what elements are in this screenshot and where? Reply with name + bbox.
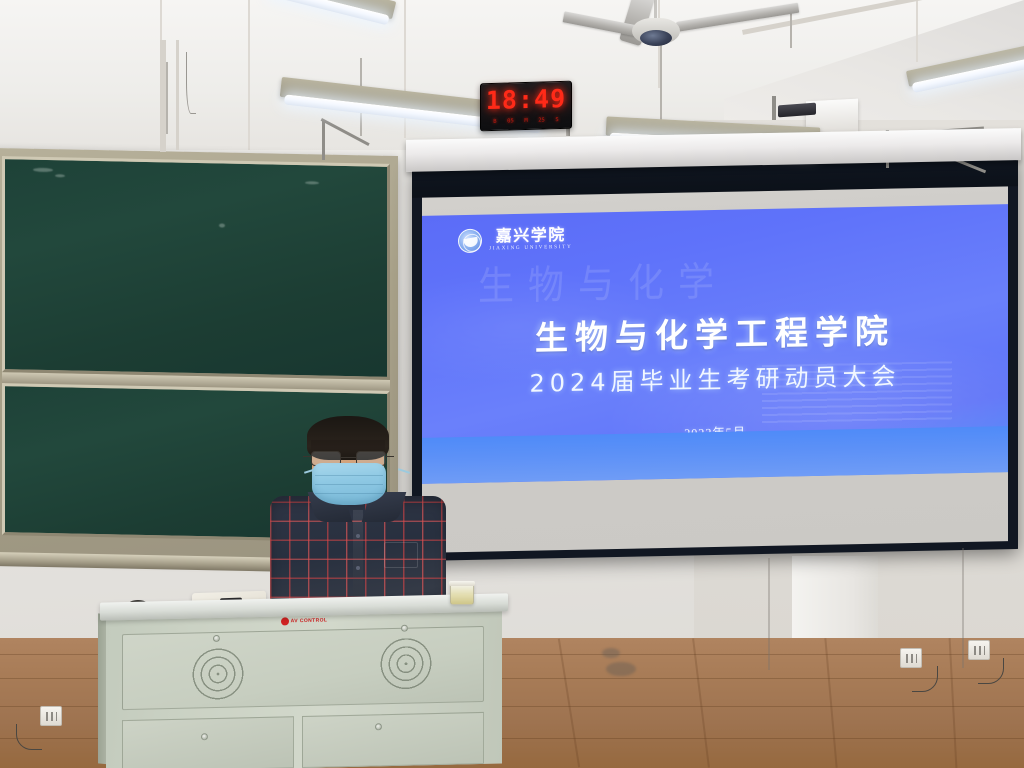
mask-pleat <box>315 493 383 494</box>
light-support-bracket <box>322 120 325 160</box>
drawer-knob[interactable] <box>201 733 208 740</box>
projector-mount-bracket <box>772 96 776 120</box>
panel-screw <box>213 635 220 642</box>
floor-seam-line <box>824 638 837 768</box>
university-emblem-icon <box>458 229 482 253</box>
speaker-grille-left <box>189 646 247 701</box>
logo-text-stack: 嘉兴学院 JIAXING UNIVERSITY <box>489 227 572 252</box>
chalk-smudge <box>219 223 225 227</box>
light-hanger <box>660 40 662 128</box>
clock-indicator: 05 <box>507 118 514 124</box>
ceiling-fan-motor-cap <box>640 30 672 46</box>
clock-indicators: B 05 M 25 S <box>481 117 571 126</box>
power-outlet-right-2[interactable] <box>968 640 990 660</box>
speaker-grille-right <box>377 636 435 691</box>
mask-ear-strap-right <box>398 468 410 474</box>
wall-conduit <box>176 40 179 150</box>
lectern[interactable]: AV CONTROL <box>106 612 502 768</box>
surgical-face-mask <box>312 463 386 505</box>
university-name-cn: 嘉兴学院 <box>496 227 566 244</box>
brand-label: AV CONTROL <box>291 617 328 624</box>
projection-screen-fabric: 生物与化学 嘉兴学院 JIAXING UNIVERSITY 生物与化学工程学院 … <box>422 162 1008 553</box>
presentation-slide: 生物与化学 嘉兴学院 JIAXING UNIVERSITY 生物与化学工程学院 … <box>422 204 1008 484</box>
lectern-drawer-right[interactable] <box>302 712 484 768</box>
floor-seam-line <box>692 638 710 767</box>
lectern-front-panel[interactable] <box>122 626 484 710</box>
clock-time-display: 18:49 <box>481 86 571 114</box>
clock-indicator: M <box>524 118 527 124</box>
lectern-body: AV CONTROL <box>106 608 502 768</box>
projection-screen[interactable]: 生物与化学 嘉兴学院 JIAXING UNIVERSITY 生物与化学工程学院 … <box>412 154 1018 561</box>
eyeglass-temple-left <box>303 456 311 457</box>
light-hanger <box>790 8 792 48</box>
shirt-button <box>356 534 360 538</box>
clock-indicator: 25 <box>538 117 545 123</box>
classroom-scene: 18:49 B 05 M 25 S 生物与化学 <box>0 0 1024 768</box>
floor-seam-line <box>949 638 958 768</box>
clock-indicator: S <box>555 117 558 123</box>
wall-scuff <box>602 648 620 658</box>
chalkboard-panel-top <box>2 156 390 380</box>
tea-cup[interactable] <box>450 583 474 605</box>
ceiling-seam <box>916 0 918 62</box>
ceiling-seam <box>248 0 250 150</box>
shirt-pocket <box>384 542 418 568</box>
clock-indicator: B <box>493 119 496 125</box>
mask-pleat <box>315 475 383 476</box>
brand-dot-icon <box>281 617 289 625</box>
eyeglass-temple-right <box>386 456 394 457</box>
power-outlet-right[interactable] <box>900 648 922 668</box>
mask-pleat <box>315 484 383 485</box>
chalk-smudge <box>33 168 53 172</box>
wall-crack <box>962 548 964 668</box>
emblem-swoosh-icon <box>463 237 478 248</box>
university-name-en: JIAXING UNIVERSITY <box>489 245 572 252</box>
shirt-button <box>356 566 360 570</box>
eyeglass-bridge <box>341 457 356 458</box>
panel-screw <box>401 625 408 632</box>
wall-crack <box>768 558 770 670</box>
chalk-smudge <box>305 181 319 184</box>
light-hanger <box>166 62 168 134</box>
wall-scuff <box>606 662 636 676</box>
university-logo: 嘉兴学院 JIAXING UNIVERSITY <box>458 227 572 253</box>
chalk-smudge <box>55 174 65 177</box>
hanging-cable <box>186 52 196 114</box>
lectern-drawer-left[interactable] <box>122 716 294 768</box>
digital-led-wall-clock: 18:49 B 05 M 25 S <box>480 81 572 132</box>
drawer-knob[interactable] <box>375 723 382 730</box>
floor-seam-line <box>558 639 580 768</box>
power-outlet-left[interactable] <box>40 706 62 726</box>
